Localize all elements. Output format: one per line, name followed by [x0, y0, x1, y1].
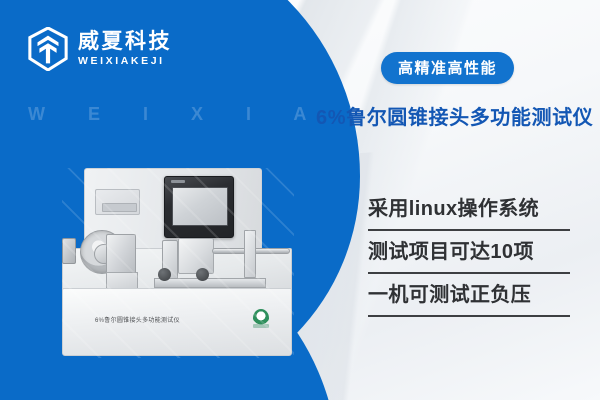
certification-round-icon — [253, 309, 269, 327]
feature-item-label: 测试项目可达10项 — [368, 239, 570, 266]
machine-motor-block — [106, 234, 136, 276]
feature-list: 采用linux操作系统 测试项目可达10项 一机可测试正负压 — [368, 196, 570, 325]
product-photo: 6%鲁尔圆锥接头多功能测试仪 — [62, 168, 294, 358]
promo-headline: 6%鲁尔圆锥接头多功能测试仪 — [316, 101, 593, 130]
touchscreen-panel-icon — [164, 176, 234, 238]
machine-screen — [172, 187, 228, 226]
feature-item: 一机可测试正负压 — [368, 282, 570, 317]
feature-item-label: 采用linux操作系统 — [368, 196, 570, 223]
machine-front-body: 6%鲁尔圆锥接头多功能测试仪 — [62, 288, 292, 356]
feature-item-label: 一机可测试正负压 — [368, 282, 570, 309]
machine-support-post — [244, 230, 256, 278]
feature-item: 测试项目可达10项 — [368, 239, 570, 274]
product-promo-banner: W E I X I A K E 威夏科技 WEIXIAKEJI 高精准高性能 6… — [0, 0, 600, 400]
promo-badge: 高精准高性能 — [381, 52, 514, 84]
weixia-hexagon-logo-icon — [27, 27, 69, 71]
brand-name-cn: 威夏科技 — [78, 31, 172, 52]
brand-name-en: WEIXIAKEJI — [78, 56, 172, 67]
brand-logo-text: 威夏科技 WEIXIAKEJI — [78, 31, 172, 67]
machine-side-panel — [95, 189, 140, 215]
machine-model-label: 6%鲁尔圆锥接头多功能测试仪 — [95, 315, 180, 324]
machine-linear-rail — [154, 278, 266, 288]
brand-logo[interactable]: 威夏科技 WEIXIAKEJI — [27, 27, 172, 71]
machine-knob — [196, 268, 209, 281]
machine-test-fixture — [178, 238, 214, 274]
feature-item: 采用linux操作系统 — [368, 196, 570, 231]
machine-knob — [158, 268, 171, 281]
machine-handle — [62, 238, 76, 264]
